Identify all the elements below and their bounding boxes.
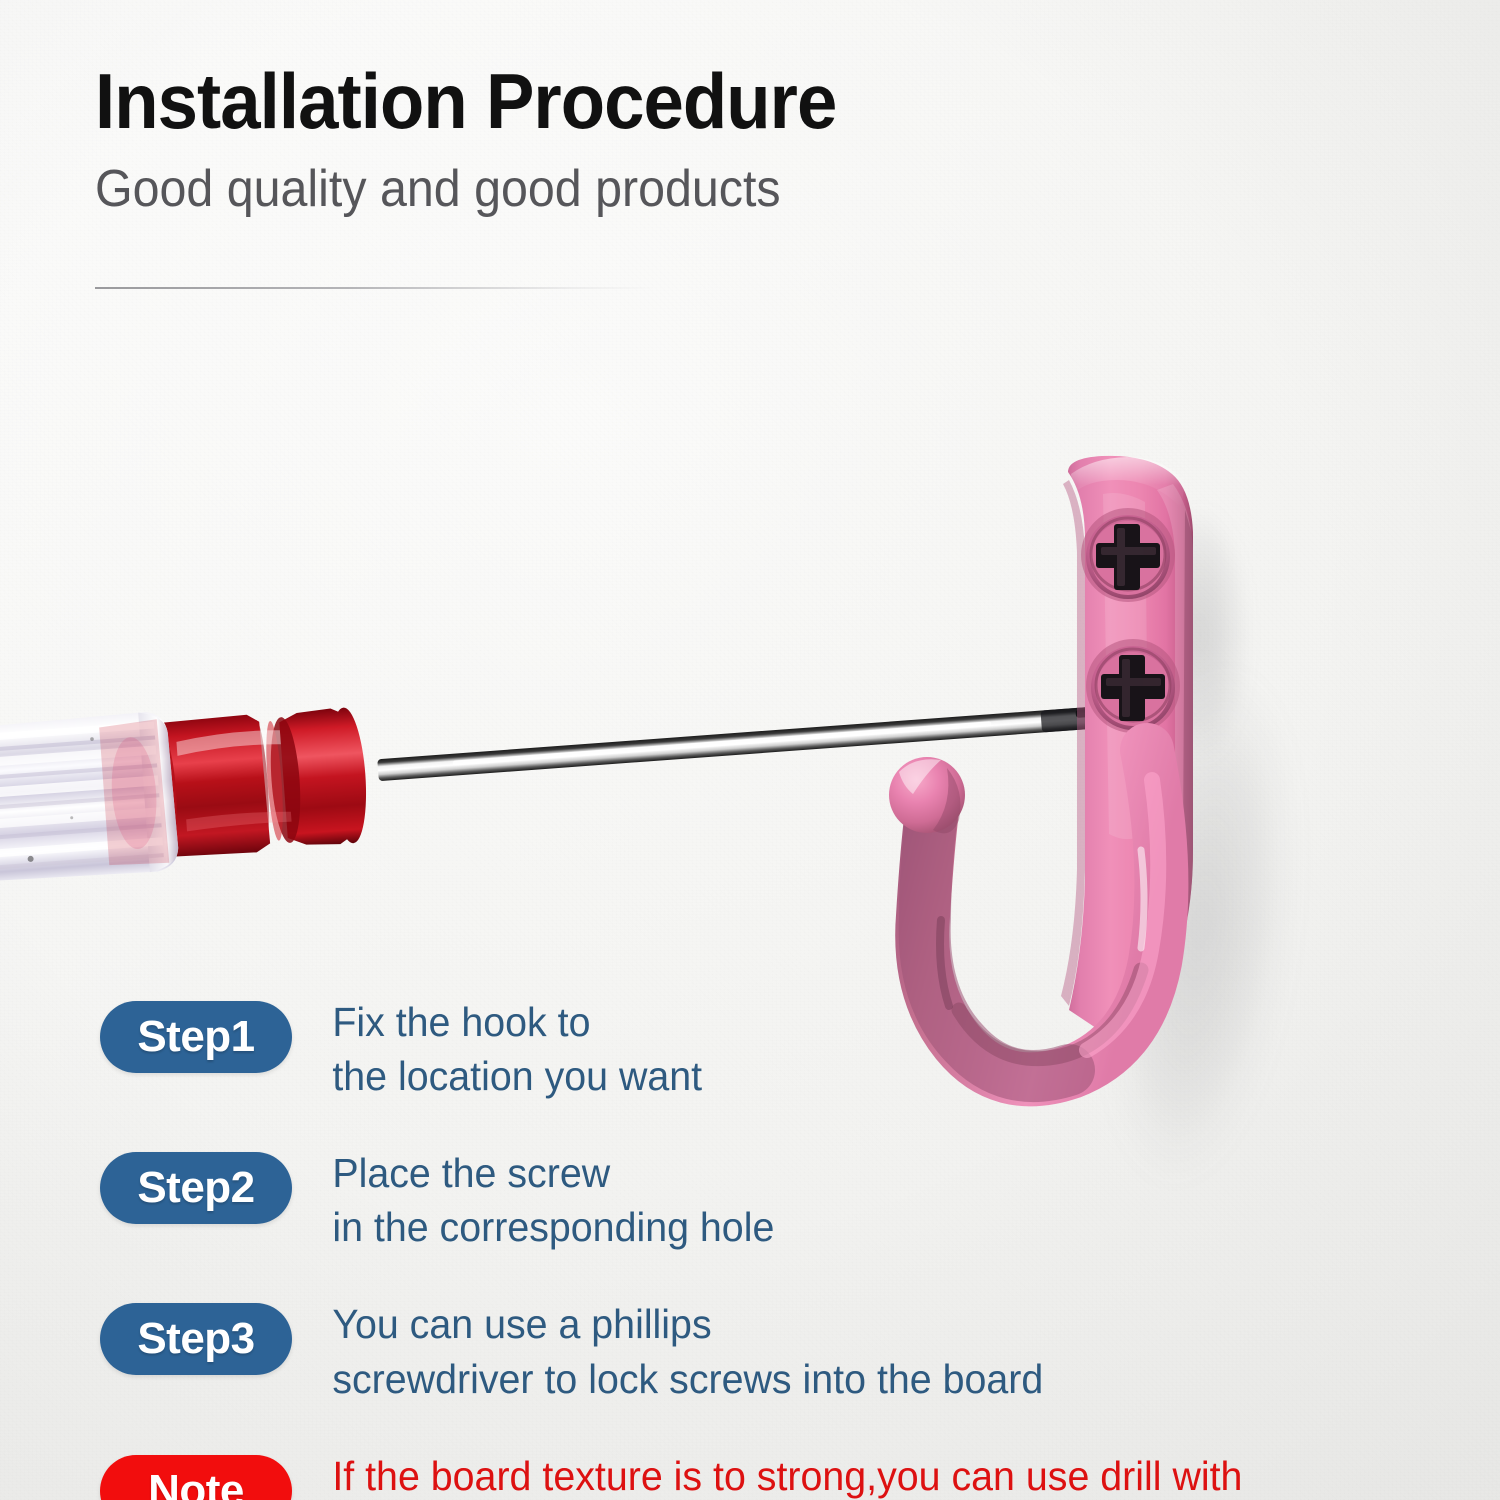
screw-hole-top bbox=[1081, 508, 1175, 602]
step-row: Step3 You can use a phillips screwdriver… bbox=[100, 1297, 1430, 1405]
step-text-2: Place the screw in the corresponding hol… bbox=[292, 1146, 774, 1254]
note-badge: Note bbox=[100, 1455, 292, 1500]
step-row: Step1 Fix the hook to the location you w… bbox=[100, 995, 1430, 1103]
step-text-1: Fix the hook to the location you want bbox=[292, 995, 702, 1103]
step-line: in the corresponding hole bbox=[332, 1200, 774, 1254]
header-divider bbox=[95, 287, 655, 289]
hook-ball-tip bbox=[889, 757, 965, 833]
step-line: Fix the hook to bbox=[332, 995, 702, 1049]
header: Installation Procedure Good quality and … bbox=[95, 62, 1295, 217]
step-badge-2: Step2 bbox=[100, 1152, 292, 1224]
step-badge-3: Step3 bbox=[100, 1303, 292, 1375]
note-line: If the board texture is to strong,you ca… bbox=[332, 1449, 1242, 1500]
note-row: Note If the board texture is to strong,y… bbox=[100, 1449, 1430, 1500]
page-title: Installation Procedure bbox=[95, 62, 1211, 140]
step-line: Place the screw bbox=[332, 1146, 774, 1200]
step-line: You can use a phillips bbox=[332, 1297, 1043, 1351]
step-text-3: You can use a phillips screwdriver to lo… bbox=[292, 1297, 1043, 1405]
screwdriver-handle bbox=[0, 710, 180, 889]
note-text: If the board texture is to strong,you ca… bbox=[292, 1449, 1242, 1500]
step-line: the location you want bbox=[332, 1049, 702, 1103]
step-row: Step2 Place the screw in the correspondi… bbox=[100, 1146, 1430, 1254]
page-subtitle: Good quality and good products bbox=[95, 140, 1211, 217]
screw-hole-bottom bbox=[1086, 639, 1180, 733]
step-line: screwdriver to lock screws into the boar… bbox=[332, 1352, 1043, 1406]
step-badge-1: Step1 bbox=[100, 1001, 292, 1073]
steps-list: Step1 Fix the hook to the location you w… bbox=[100, 995, 1430, 1500]
installation-procedure-page: Installation Procedure Good quality and … bbox=[0, 0, 1500, 1500]
